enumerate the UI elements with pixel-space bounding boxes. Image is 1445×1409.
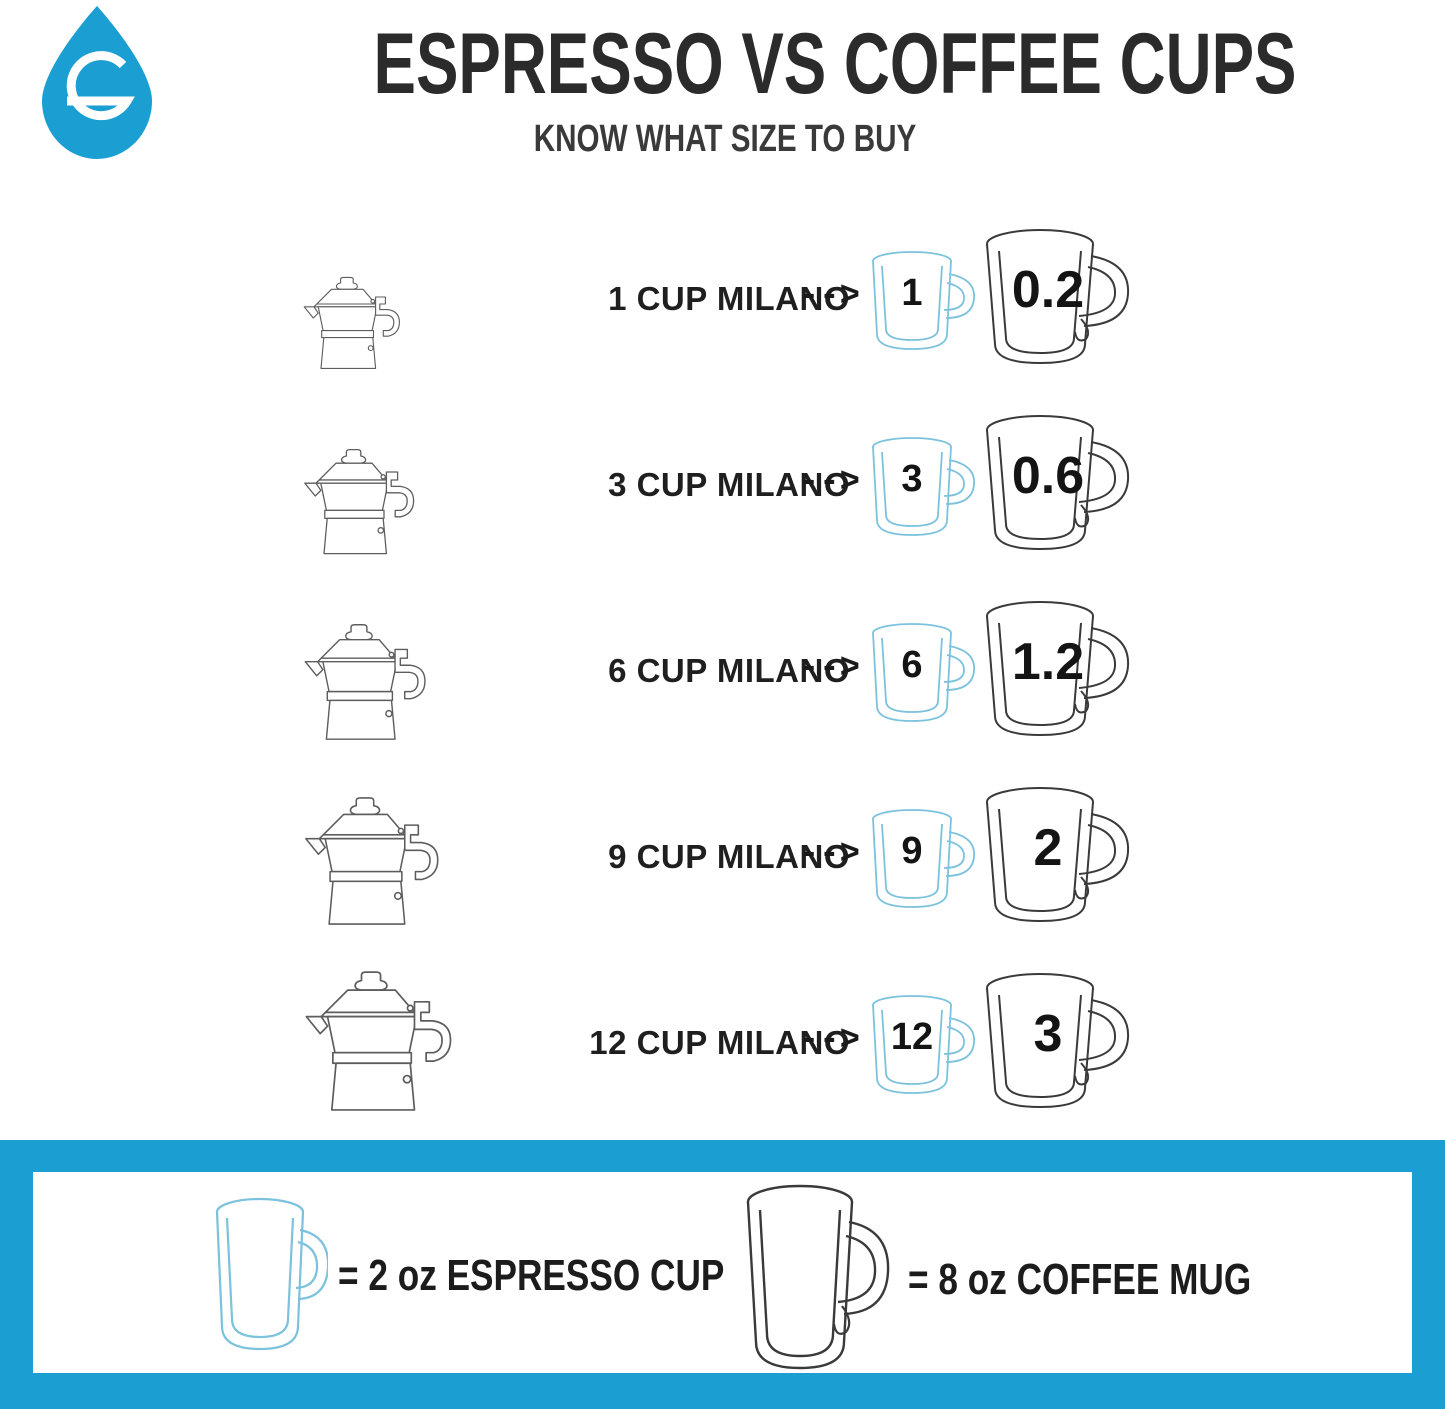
comparison-row: 1 CUP MILANO --> 1 0.2 bbox=[0, 206, 1445, 392]
water-drop-g-logo-icon bbox=[36, 4, 158, 162]
arrow-icon: --> bbox=[780, 650, 860, 688]
espresso-cup-icon: 6 bbox=[866, 618, 986, 728]
page-subtitle: KNOW WHAT SIZE TO BUY bbox=[355, 120, 1096, 158]
coffee-mug-icon: 0.6 bbox=[978, 408, 1138, 560]
coffee-mug-count: 3 bbox=[984, 1004, 1112, 1064]
comparison-row: 6 CUP MILANO --> 6 1.2 bbox=[0, 578, 1445, 764]
espresso-cup-icon: 3 bbox=[866, 432, 986, 542]
arrow-icon: --> bbox=[780, 1022, 860, 1060]
arrow-icon: --> bbox=[780, 836, 860, 874]
espresso-cup-icon: 12 bbox=[866, 990, 986, 1100]
header: ESPRESSO VS COFFEE CUPS KNOW WHAT SIZE T… bbox=[0, 0, 1445, 190]
legend-item-mug: = 8 oz COFFEE MUG bbox=[738, 1172, 1337, 1387]
legend-panel: = 2 oz ESPRESSO CUP = 8 oz COFFEE MUG bbox=[33, 1172, 1412, 1373]
coffee-mug-count: 1.2 bbox=[984, 632, 1112, 692]
coffee-mug-icon: 1.2 bbox=[978, 594, 1138, 746]
coffee-mug-count: 0.6 bbox=[984, 446, 1112, 506]
comparison-rows: 1 CUP MILANO --> 1 0.2 bbox=[0, 196, 1445, 1126]
coffee-mug-count: 2 bbox=[984, 818, 1112, 878]
espresso-cup-icon: 9 bbox=[866, 804, 986, 914]
page-title: ESPRESSO VS COFFEE CUPS bbox=[374, 22, 1077, 106]
moka-pot-icon bbox=[300, 968, 460, 1118]
arrow-icon: --> bbox=[780, 278, 860, 316]
moka-pot-icon bbox=[300, 410, 460, 560]
espresso-cup-icon bbox=[208, 1186, 328, 1366]
coffee-mug-icon: 3 bbox=[978, 966, 1138, 1118]
espresso-cup-count: 12 bbox=[866, 1016, 958, 1059]
comparison-row: 3 CUP MILANO --> 3 0.6 bbox=[0, 392, 1445, 578]
moka-pot-icon bbox=[300, 596, 460, 746]
legend-mug-label: = 8 oz COFFEE MUG bbox=[908, 1255, 1251, 1305]
title-block: ESPRESSO VS COFFEE CUPS KNOW WHAT SIZE T… bbox=[250, 22, 1200, 158]
legend-espresso-label: = 2 oz ESPRESSO CUP bbox=[338, 1251, 724, 1301]
moka-pot-icon bbox=[300, 224, 460, 374]
espresso-cup-count: 3 bbox=[866, 458, 958, 501]
comparison-row: 9 CUP MILANO --> 9 2 bbox=[0, 764, 1445, 950]
coffee-mug-icon: 0.2 bbox=[978, 222, 1138, 374]
coffee-mug-icon bbox=[738, 1172, 898, 1387]
arrow-icon: --> bbox=[780, 464, 860, 502]
coffee-mug-count: 0.2 bbox=[984, 260, 1112, 320]
espresso-cup-count: 9 bbox=[866, 830, 958, 873]
moka-pot-icon bbox=[300, 782, 460, 932]
legend-band: = 2 oz ESPRESSO CUP = 8 oz COFFEE MUG bbox=[0, 1140, 1445, 1409]
coffee-mug-icon: 2 bbox=[978, 780, 1138, 932]
comparison-row: 12 CUP MILANO --> 12 3 bbox=[0, 950, 1445, 1136]
espresso-cup-count: 1 bbox=[866, 272, 958, 315]
legend-item-espresso: = 2 oz ESPRESSO CUP bbox=[208, 1186, 821, 1366]
espresso-cup-icon: 1 bbox=[866, 246, 986, 356]
espresso-cup-count: 6 bbox=[866, 644, 958, 687]
